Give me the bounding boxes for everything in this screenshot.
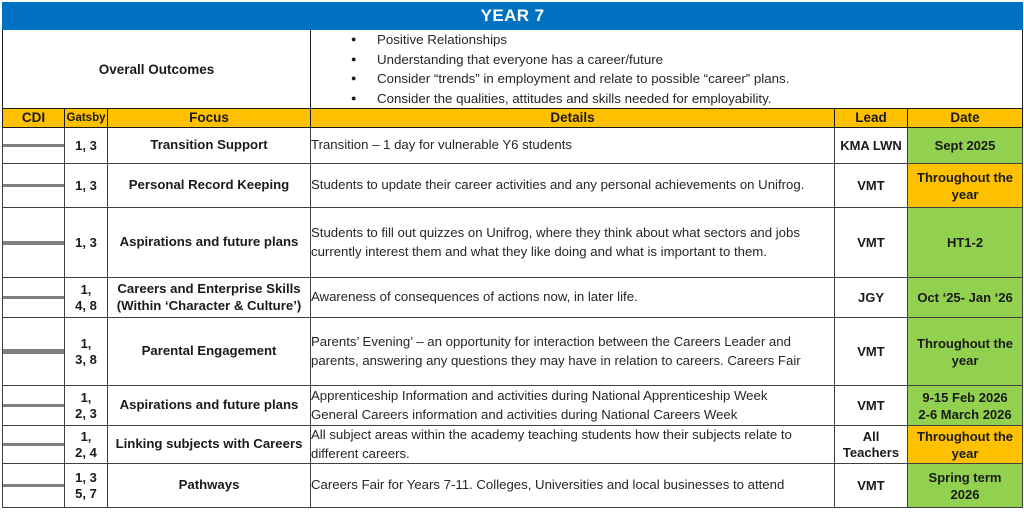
details-line: Students to update their career activiti… [311, 176, 834, 195]
cdi-swatch-amber [3, 405, 24, 407]
cdi-swatch-row [3, 243, 64, 244]
lead-cell: VMT [835, 318, 908, 386]
focus-cell: Linking subjects with Careers [108, 426, 311, 464]
table-row: 1, 3Personal Record KeepingStudents to u… [3, 164, 1023, 208]
focus-line: Transition Support [108, 137, 310, 154]
cdi-swatch-magenta [43, 485, 64, 487]
cdi-swatch-row [3, 353, 64, 354]
lead-cell: VMT [835, 164, 908, 208]
focus-line: (Within ‘Character & Culture’) [108, 298, 310, 315]
table-row: 1,4, 8Careers and Enterprise Skills(With… [3, 278, 1023, 318]
column-header-details: Details [311, 109, 835, 128]
cdi-cell [3, 318, 65, 386]
date-line: HT1-2 [908, 234, 1022, 251]
cdi-swatch-row [3, 298, 64, 299]
lead-line: KMA LWN [835, 138, 907, 154]
cdi-swatch-white [43, 145, 64, 147]
outcome-bullet: Positive Relationships [351, 30, 1022, 50]
details-line: currently interest them and what they li… [311, 243, 834, 262]
date-line: 9-15 Feb 2026 [908, 389, 1022, 406]
gatsby-line: 1, [65, 429, 107, 445]
gatsby-line: 2, 3 [65, 406, 107, 422]
gatsby-line: 1, [65, 390, 107, 406]
date-cell: Throughout theyear [908, 318, 1023, 386]
cdi-swatch-white [23, 405, 44, 407]
column-header-lead: Lead [835, 109, 908, 128]
cdi-swatch-white [43, 352, 64, 354]
cdi-cell [3, 386, 65, 426]
focus-cell: Personal Record Keeping [108, 164, 311, 208]
lead-line: VMT [835, 478, 907, 494]
page-title: YEAR 7 [3, 3, 1023, 30]
cdi-swatch-row [3, 406, 64, 407]
focus-cell: Aspirations and future plans [108, 386, 311, 426]
details-cell: Apprenticeship Information and activitie… [311, 386, 835, 426]
details-line: Students to fill out quizzes on Unifrog,… [311, 224, 834, 243]
cdi-swatch-magenta [43, 297, 64, 299]
focus-line: Pathways [108, 477, 310, 494]
lead-line: JGY [835, 290, 907, 306]
gatsby-line: 1, [65, 336, 107, 352]
lead-line: Teachers [835, 445, 907, 461]
column-header-focus: Focus [108, 109, 311, 128]
details-line: Apprenticeship Information and activitie… [311, 387, 834, 406]
details-cell: Awareness of consequences of actions now… [311, 278, 835, 318]
lead-cell: KMA LWN [835, 128, 908, 164]
details-line: Careers Fair for Years 7-11. Colleges, U… [311, 476, 834, 495]
date-cell: Oct ‘25- Jan ‘26 [908, 278, 1023, 318]
gatsby-line: 1, 3 [65, 235, 107, 251]
cdi-cell [3, 164, 65, 208]
date-line: 2-6 March 2026 [908, 406, 1022, 423]
gatsby-cell: 1,3, 8 [65, 318, 108, 386]
details-line: parents, answering any questions they ma… [311, 352, 834, 371]
gatsby-cell: 1,4, 8 [65, 278, 108, 318]
gatsby-line: 5, 7 [65, 486, 107, 502]
cdi-swatch-amber [3, 145, 24, 147]
gatsby-line: 4, 8 [65, 298, 107, 314]
cdi-cell [3, 464, 65, 508]
focus-cell: Careers and Enterprise Skills(Within ‘Ch… [108, 278, 311, 318]
date-line: Oct ‘25- Jan ‘26 [908, 289, 1022, 306]
column-header-row: CDIGatsbyFocusDetailsLeadDate [3, 109, 1023, 128]
focus-line: Aspirations and future plans [108, 397, 310, 414]
date-line: Spring term [908, 469, 1022, 486]
gatsby-line: 3, 8 [65, 352, 107, 368]
details-cell: Transition – 1 day for vulnerable Y6 stu… [311, 128, 835, 164]
overall-outcomes-list: Positive RelationshipsUnderstanding that… [311, 30, 1023, 109]
cdi-swatch-white [3, 444, 24, 446]
date-line: 2026 [908, 486, 1022, 503]
lead-line: VMT [835, 398, 907, 414]
gatsby-cell: 1, 3 [65, 208, 108, 278]
lead-line: VMT [835, 235, 907, 251]
gatsby-line: 1, 3 [65, 138, 107, 154]
date-line: Throughout the [908, 169, 1022, 186]
cdi-swatch-row [3, 146, 64, 147]
table-row: 1, 3Aspirations and future plansStudents… [3, 208, 1023, 278]
details-cell: Careers Fair for Years 7-11. Colleges, U… [311, 464, 835, 508]
cdi-swatch-white [3, 185, 24, 187]
cdi-swatch-magenta [43, 444, 64, 446]
date-line: Throughout the [908, 428, 1022, 445]
lead-line: All [835, 429, 907, 445]
gatsby-cell: 1, 3 [65, 128, 108, 164]
lead-cell: JGY [835, 278, 908, 318]
cdi-swatch-amber [3, 485, 24, 487]
outcome-bullet: Consider the qualities, attitudes and sk… [351, 89, 1022, 109]
date-line: Sept 2025 [908, 137, 1022, 154]
table-body: YEAR 7Overall OutcomesPositive Relations… [3, 3, 1023, 508]
focus-line: Aspirations and future plans [108, 234, 310, 251]
cdi-swatch-white [23, 444, 44, 446]
lead-cell: VMT [835, 464, 908, 508]
table-row: 1,2, 3Aspirations and future plansAppren… [3, 386, 1023, 426]
table-row: 1,2, 4Linking subjects with CareersAll s… [3, 426, 1023, 464]
details-line: Transition – 1 day for vulnerable Y6 stu… [311, 136, 834, 155]
focus-line: Parental Engagement [108, 343, 310, 360]
gatsby-cell: 1,2, 3 [65, 386, 108, 426]
cdi-swatch-white [23, 297, 44, 299]
lead-cell: AllTeachers [835, 426, 908, 464]
cdi-swatch-white [23, 485, 44, 487]
cdi-swatch-white [23, 352, 44, 354]
date-cell: Sept 2025 [908, 128, 1023, 164]
cdi-swatch-magenta [43, 185, 64, 187]
title-row: YEAR 7 [3, 3, 1023, 30]
table-row: 1, 3Transition SupportTransition – 1 day… [3, 128, 1023, 164]
cdi-swatch-magenta [43, 243, 64, 245]
details-line: All subject areas within the academy tea… [311, 426, 834, 445]
details-cell: Students to fill out quizzes on Unifrog,… [311, 208, 835, 278]
cdi-swatch-white [23, 185, 44, 187]
cdi-swatch-row [3, 186, 64, 187]
careers-plan-table: YEAR 7Overall OutcomesPositive Relations… [2, 2, 1023, 508]
details-cell: All subject areas within the academy tea… [311, 426, 835, 464]
column-header-cdi: CDI [3, 109, 65, 128]
gatsby-line: 2, 4 [65, 445, 107, 461]
lead-line: VMT [835, 344, 907, 360]
cdi-cell [3, 128, 65, 164]
date-cell: Throughout theyear [908, 426, 1023, 464]
gatsby-line: 1, [65, 282, 107, 298]
table-row: 1, 35, 7PathwaysCareers Fair for Years 7… [3, 464, 1023, 508]
overall-outcomes-row: Overall OutcomesPositive RelationshipsUn… [3, 30, 1023, 109]
gatsby-cell: 1, 3 [65, 164, 108, 208]
date-line: Throughout the [908, 335, 1022, 352]
focus-cell: Aspirations and future plans [108, 208, 311, 278]
focus-line: Personal Record Keeping [108, 177, 310, 194]
gatsby-line: 1, 3 [65, 178, 107, 194]
cdi-swatch-row [3, 445, 64, 446]
focus-line: Careers and Enterprise Skills [108, 281, 310, 298]
gatsby-cell: 1,2, 4 [65, 426, 108, 464]
cdi-swatch-white [23, 145, 44, 147]
outcome-bullet: Understanding that everyone has a career… [351, 50, 1022, 70]
details-line: different careers. [311, 445, 834, 464]
column-header-date: Date [908, 109, 1023, 128]
lead-line: VMT [835, 178, 907, 194]
cdi-cell [3, 278, 65, 318]
outcome-bullet: Consider “trends” in employment and rela… [351, 69, 1022, 89]
table-row: 1,3, 8Parental EngagementParents’ Evenin… [3, 318, 1023, 386]
cdi-swatch-magenta [43, 405, 64, 407]
cdi-swatch-row [3, 486, 64, 487]
gatsby-cell: 1, 35, 7 [65, 464, 108, 508]
cdi-cell [3, 208, 65, 278]
details-line: Parents’ Evening’ – an opportunity for i… [311, 333, 834, 352]
date-line: year [908, 445, 1022, 462]
date-cell: Spring term2026 [908, 464, 1023, 508]
date-line: year [908, 186, 1022, 203]
year-7-careers-plan-page: YEAR 7Overall OutcomesPositive Relations… [0, 0, 1024, 525]
cdi-swatch-amber [3, 243, 24, 245]
focus-cell: Parental Engagement [108, 318, 311, 386]
focus-line: Linking subjects with Careers [108, 436, 310, 453]
cdi-swatch-amber [3, 352, 24, 354]
date-cell: HT1-2 [908, 208, 1023, 278]
details-cell: Students to update their career activiti… [311, 164, 835, 208]
lead-cell: VMT [835, 208, 908, 278]
details-line: General Careers information and activiti… [311, 406, 834, 425]
date-cell: Throughout theyear [908, 164, 1023, 208]
cdi-swatch-white [23, 243, 44, 245]
gatsby-line: 1, 3 [65, 470, 107, 486]
focus-cell: Pathways [108, 464, 311, 508]
date-cell: 9-15 Feb 20262-6 March 2026 [908, 386, 1023, 426]
focus-cell: Transition Support [108, 128, 311, 164]
cdi-swatch-white [3, 297, 24, 299]
column-header-gatsby: Gatsby [65, 109, 108, 128]
cdi-cell [3, 426, 65, 464]
lead-cell: VMT [835, 386, 908, 426]
date-line: year [908, 352, 1022, 369]
overall-outcomes-label: Overall Outcomes [3, 30, 311, 109]
details-cell: Parents’ Evening’ – an opportunity for i… [311, 318, 835, 386]
details-line: Awareness of consequences of actions now… [311, 288, 834, 307]
